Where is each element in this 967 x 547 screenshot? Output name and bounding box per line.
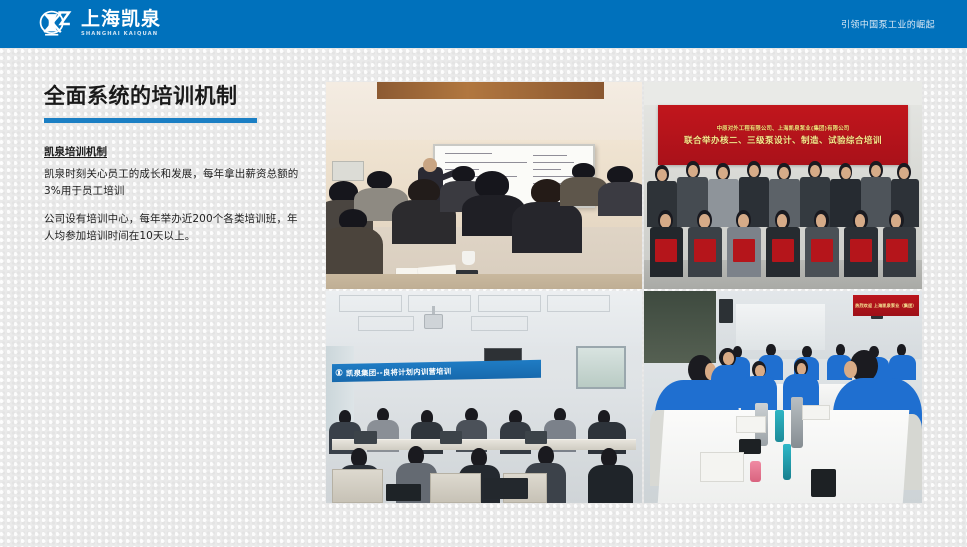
page-title: 全面系统的培训机制 [44, 84, 306, 109]
workshop-team-training-photo: 热烈欢迎 上海凯泉泵业（集团） [644, 291, 922, 503]
kq-monogram-icon [36, 9, 74, 39]
banner-line-2: 联合举办核二、三级泵设计、制造、试验综合培训 [684, 134, 882, 146]
body-paragraph-2: 公司设有培训中心，每年举办近200个各类培训班，年人均参加培训时间在10天以上。 [44, 211, 306, 245]
title-underline-rule [44, 118, 257, 123]
workshop-welcome-banner: 热烈欢迎 上海凯泉泵业（集团） [853, 295, 920, 316]
kq-banner-logo-icon [335, 369, 344, 377]
lecture-classroom-photo [326, 82, 642, 289]
page-header: 上海凯泉 SHANGHAI KAIQUAN 引领中国泵工业的崛起 [0, 0, 967, 48]
nuclear-pump-training-group-photo: 中原对外工程有限公司、上海凯泉泵业(集团)有限公司 联合举办核二、三级泵设计、制… [644, 82, 922, 289]
text-column: 全面系统的培训机制 凯泉培训机制 凯泉时刻关心员工的成长和发展，每年拿出薪资总额… [44, 84, 306, 245]
red-training-banner: 中原对外工程有限公司、上海凯泉泵业(集团)有限公司 联合举办核二、三级泵设计、制… [658, 105, 908, 165]
brand-logo[interactable]: 上海凯泉 SHANGHAI KAIQUAN [36, 9, 161, 39]
computer-training-room-photo: 凯泉集团--良将计划内训营培训 [326, 291, 642, 503]
blue-banner-text: 凯泉集团--良将计划内训营培训 [346, 365, 451, 378]
body-paragraph-1: 凯泉时刻关心员工的成长和发展，每年拿出薪资总额的3%用于员工培训 [44, 166, 306, 200]
section-subheading: 凯泉培训机制 [44, 145, 306, 161]
photo-grid: 中原对外工程有限公司、上海凯泉泵业(集团)有限公司 联合举办核二、三级泵设计、制… [326, 82, 922, 503]
workshop-banner-text: 热烈欢迎 上海凯泉泵业（集团） [855, 303, 917, 309]
banner-line-1: 中原对外工程有限公司、上海凯泉泵业(集团)有限公司 [717, 124, 850, 132]
slide-root: 上海凯泉 SHANGHAI KAIQUAN 引领中国泵工业的崛起 全面系统的培训… [0, 0, 967, 547]
logo-english-text: SHANGHAI KAIQUAN [81, 32, 161, 37]
header-slogan: 引领中国泵工业的崛起 [841, 18, 935, 31]
logo-chinese-text: 上海凯泉 [81, 10, 161, 29]
blue-training-banner: 凯泉集团--良将计划内训营培训 [332, 360, 541, 382]
